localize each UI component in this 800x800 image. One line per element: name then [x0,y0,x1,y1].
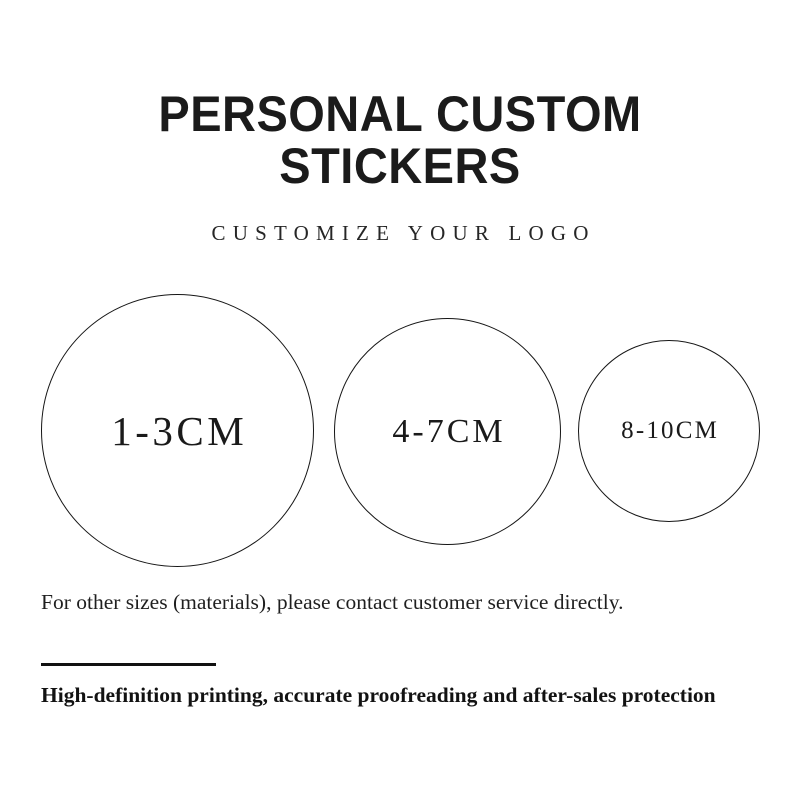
section-divider [41,663,216,666]
size-option-label: 1-3CM [108,407,247,455]
contact-note-block: For other sizes (materials), please cont… [41,586,701,619]
heading-block: PERSONAL CUSTOM STICKERS CUSTOMIZE YOUR … [0,88,800,245]
size-option-circle-large[interactable]: 8-10CM [578,340,760,522]
size-option-label: 8-10CM [619,417,719,445]
page-subtitle: CUSTOMIZE YOUR LOGO [0,192,800,245]
contact-note-text: For other sizes (materials), please cont… [41,586,701,619]
page-title-line-2: STICKERS [24,140,776,192]
page-title-line-1: PERSONAL CUSTOM [158,86,641,142]
sticker-size-poster: PERSONAL CUSTOM STICKERS CUSTOMIZE YOUR … [0,0,800,800]
size-option-circle-medium[interactable]: 4-7CM [334,318,561,545]
size-option-circle-small[interactable]: 1-3CM [41,294,314,567]
size-option-label: 4-7CM [389,413,505,451]
page-title: PERSONAL CUSTOM STICKERS [24,88,776,192]
tagline-text: High-definition printing, accurate proof… [41,678,721,712]
tagline-block: High-definition printing, accurate proof… [41,678,721,712]
